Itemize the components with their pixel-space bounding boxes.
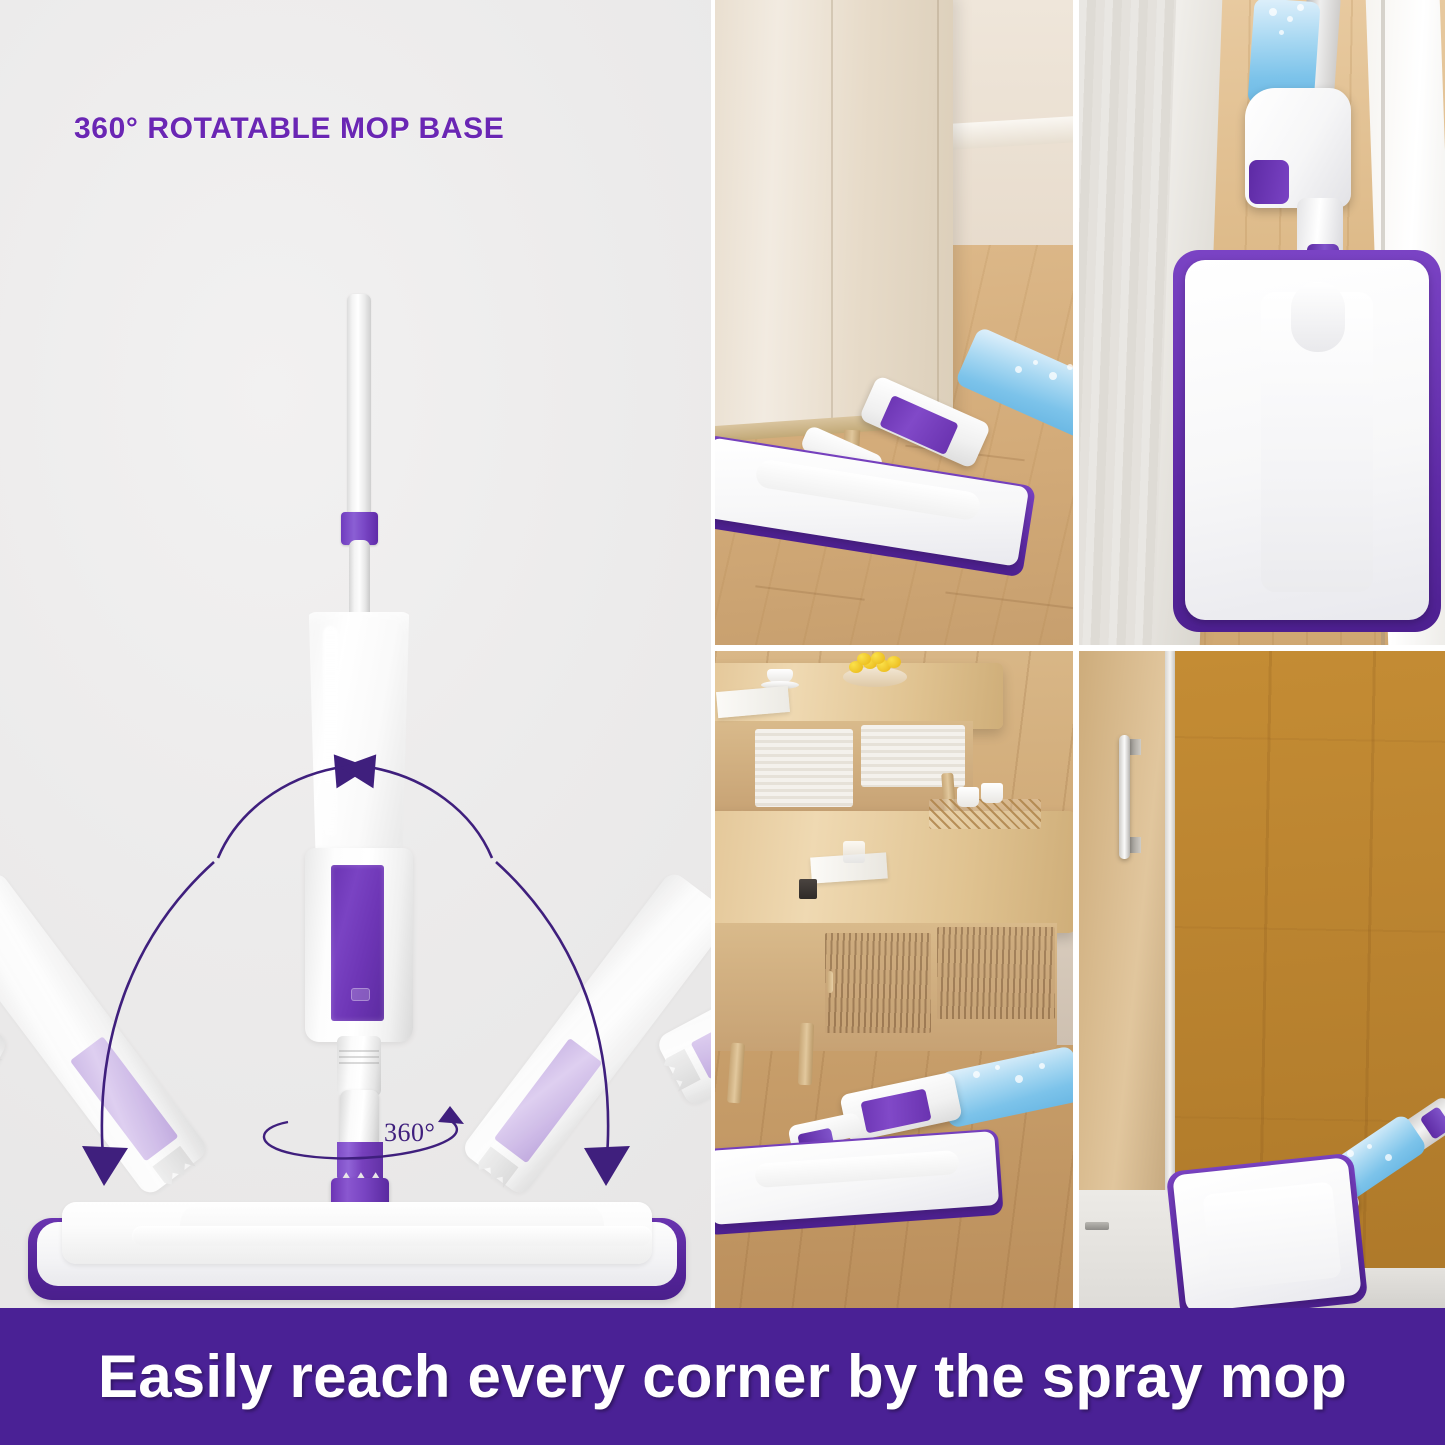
mug xyxy=(981,783,1003,803)
mop-sprite xyxy=(1187,1104,1445,1308)
mop-sprite xyxy=(715,358,1073,645)
banner-text: Easily reach every corner by the spray m… xyxy=(0,1308,1445,1445)
arc-right-to-center xyxy=(374,768,492,858)
page-title: 360° ROTATABLE MOP BASE xyxy=(74,112,504,146)
mop-base-boss xyxy=(1291,282,1345,352)
mop-grip-pad xyxy=(1249,160,1289,204)
fruit-bowl xyxy=(843,667,907,687)
arrowhead-swing-left xyxy=(82,1146,128,1186)
mop-sprite xyxy=(1157,0,1445,632)
shower-door-handle xyxy=(1119,735,1130,859)
mug xyxy=(957,787,979,807)
front-table-top xyxy=(715,811,1073,933)
glass-ornament xyxy=(843,841,865,863)
photo-beside-curtain xyxy=(1079,0,1445,645)
arc-swing-left xyxy=(102,862,214,1170)
front-table-glass-door xyxy=(937,927,1055,1019)
front-table-glass-door xyxy=(825,933,931,1033)
photo-bathroom-shower xyxy=(1079,651,1445,1308)
mop-pole-upper xyxy=(347,294,371,534)
bottom-banner: Easily reach every corner by the spray m… xyxy=(0,1308,1445,1445)
rotation-degree-label: 360° xyxy=(384,1118,435,1148)
rotation-arrows-group xyxy=(0,690,711,1260)
mop-base-ridge xyxy=(1202,1181,1341,1290)
wire-basket xyxy=(929,799,1041,829)
cabinet-handle xyxy=(827,971,833,993)
arrowhead-swing-right xyxy=(584,1146,630,1186)
back-table-door xyxy=(755,729,853,807)
mop-pole-lower xyxy=(349,540,370,620)
candle xyxy=(799,879,817,899)
rotation-ellipse-icon xyxy=(250,1098,476,1168)
product-infographic: 360° ROTATABLE MOP BASE xyxy=(0,0,1445,1445)
mop-sprite xyxy=(715,1019,1073,1308)
floor-drain xyxy=(1085,1222,1109,1230)
photo-living-room xyxy=(715,651,1073,1308)
ellipse-arrowhead xyxy=(438,1106,464,1124)
arc-left-to-center xyxy=(218,768,336,858)
arc-swing-right xyxy=(496,862,608,1170)
rotation-diagram-panel: 360° ROTATABLE MOP BASE xyxy=(0,0,711,1308)
photo-under-cabinet xyxy=(715,0,1073,645)
photo-grid xyxy=(715,0,1445,1308)
